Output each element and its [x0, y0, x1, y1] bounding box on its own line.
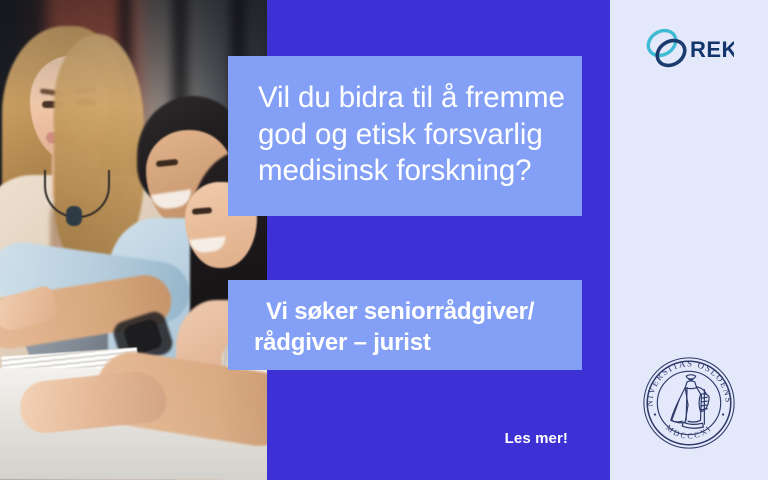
rek-logo: REK	[642, 26, 734, 72]
uio-seal-bottom-text: MDCCCXI	[664, 423, 714, 441]
rek-wordmark: REK	[690, 37, 734, 62]
recruitment-banner: REK UNIVERSITAS OSLOENSIS MDCCCXI	[0, 0, 768, 480]
headline-box: Vil du bidra til å fremme god og etisk f…	[228, 56, 582, 216]
photo-overlay-shading	[0, 0, 267, 480]
job-title-box: Vi søker seniorrådgiver/ rådgiver – juri…	[228, 280, 582, 370]
team-collaboration-photo	[0, 0, 267, 480]
headline-line-2: god og etisk forsvarlig	[258, 117, 556, 154]
job-title-line-2: rådgiver – jurist	[254, 327, 562, 358]
headline-line-1: Vil du bidra til å fremme	[258, 80, 556, 117]
read-more-link[interactable]: Les mer!	[228, 430, 568, 447]
uio-apollo-figure	[671, 375, 709, 429]
headline-line-3: medisinsk forskning?	[258, 153, 556, 190]
job-title-line-1: Vi søker seniorrådgiver/	[266, 296, 562, 327]
uio-seal: UNIVERSITAS OSLOENSIS MDCCCXI	[641, 355, 737, 451]
rek-rings-icon	[644, 26, 690, 70]
